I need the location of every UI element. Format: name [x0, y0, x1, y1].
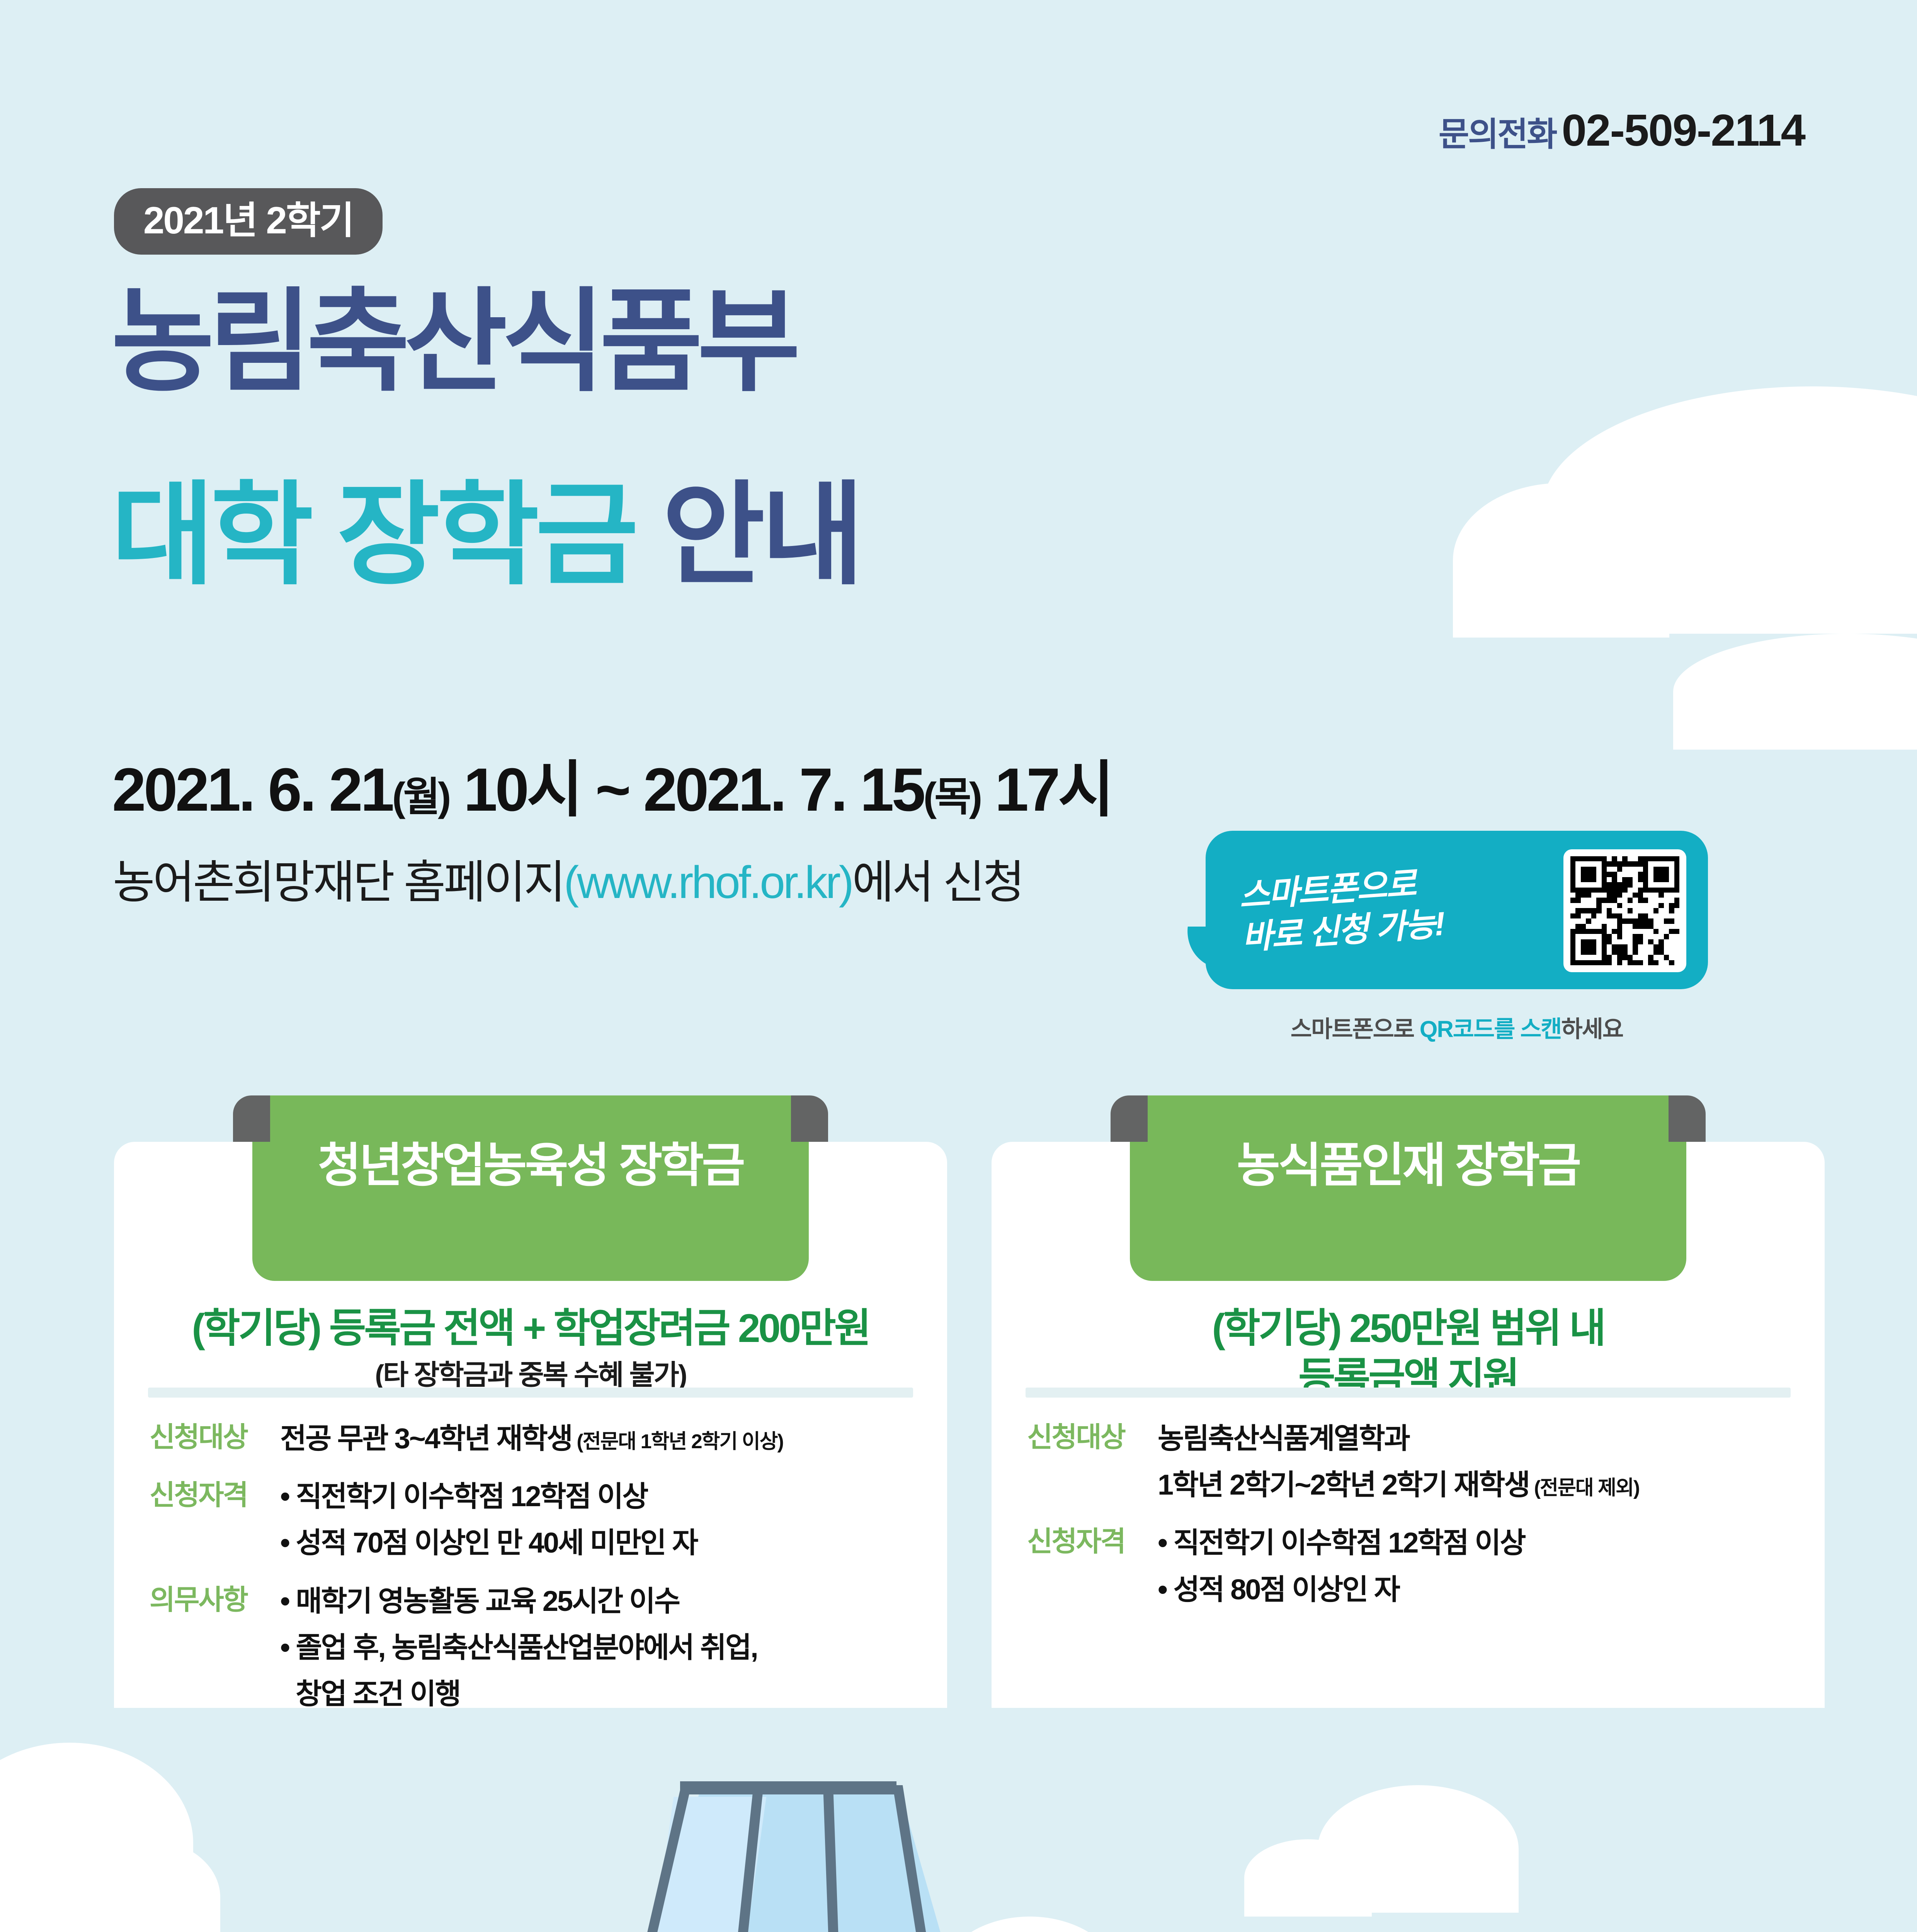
- detail-row-label: 의무사항: [150, 1583, 280, 1617]
- detail-line: 농림축산식품계열학과: [1158, 1420, 1798, 1457]
- detail-row-label: 신청대상: [1027, 1420, 1158, 1455]
- page-title-line2-navy: 안내: [662, 473, 861, 598]
- banner-tab-right: [791, 1095, 828, 1142]
- qr-caption-highlight: QR코드를 스캔: [1420, 1016, 1561, 1042]
- card-banner: 농식품인재 장학금: [1130, 1095, 1686, 1281]
- scholarship-card-agrifood-talent: 농식품인재 장학금 (학기당) 250만원 범위 내 등록금액 지원 신청대상 …: [992, 1142, 1825, 1783]
- detail-line: • 직전학기 이수학점 12학점 이상: [280, 1478, 920, 1515]
- scholarship-card-youth-startup: 청년창업농육성 장학금 (학기당) 등록금 전액 + 학업장려금 200만원 (…: [114, 1142, 947, 1783]
- period-date-start: 2021. 6. 21: [112, 756, 392, 824]
- semester-badge: 2021년 2학기: [114, 188, 383, 255]
- qr-bubble-text: 스마트폰으로 바로 신청 가능!: [1238, 861, 1446, 958]
- detail-row-body: 전공 무관 3~4학년 재학생 (전문대 1학년 2학기 이상): [280, 1420, 920, 1457]
- detail-line-note: (전문대 제외): [1529, 1477, 1639, 1499]
- card-amount-sub: (타 장학금과 중복 수혜 불가): [114, 1359, 947, 1392]
- detail-line-text: 1학년 2학기~2학년 2학기 재학생: [1158, 1469, 1529, 1501]
- period-time-end: 17시: [995, 756, 1112, 824]
- period-time-start: 10시: [464, 756, 581, 824]
- apply-url-link[interactable]: (www.rhof.or.kr): [564, 857, 852, 908]
- application-period: 2021. 6. 21(월) 10시 ~ 2021. 7. 15(목) 17시: [112, 759, 1112, 820]
- detail-row-label: 신청자격: [150, 1478, 280, 1513]
- detail-line: 1학년 2학기~2학년 2학기 재학생 (전문대 제외): [1158, 1466, 1798, 1503]
- card-amount-main: (학기당) 등록금 전액 + 학업장려금 200만원: [114, 1304, 947, 1353]
- detail-line: • 졸업 후, 농림축산식품산업분야에서 취업,: [280, 1629, 920, 1666]
- page-title-line1: 농림축산식품부: [111, 286, 795, 398]
- poster-root: 문의전화 02-509-2114 2021년 2학기 농림축산식품부 대학 장학…: [0, 0, 1917, 1932]
- detail-line: • 매학기 영농활동 교육 25시간 이수: [280, 1583, 920, 1620]
- card-divider: [148, 1388, 913, 1398]
- period-day-start: (월): [392, 775, 449, 820]
- qr-code-matrix: [1570, 856, 1679, 965]
- detail-row: 신청자격 • 직전학기 이수학점 12학점 이상 • 성적 70점 이상인 만 …: [150, 1478, 920, 1561]
- detail-row-label: 신청자격: [1027, 1524, 1158, 1559]
- application-method: 농어촌희망재단 홈페이지(www.rhof.or.kr)에서 신청: [113, 860, 1023, 905]
- page-title-line2: 대학 장학금 안내: [111, 479, 861, 591]
- card-banner-title: 청년창업농육성 장학금: [318, 1142, 743, 1189]
- apply-suffix: 에서 신청: [852, 857, 1023, 908]
- detail-row-body: • 직전학기 이수학점 12학점 이상 • 성적 70점 이상인 만 40세 미…: [280, 1478, 920, 1561]
- detail-line: 창업 조건 이행: [280, 1675, 920, 1713]
- banner-tab-right: [1669, 1095, 1706, 1142]
- greenhouse: [572, 1766, 1028, 1932]
- card-amount-block: (학기당) 등록금 전액 + 학업장려금 200만원 (타 장학금과 중복 수혜…: [114, 1304, 947, 1392]
- detail-row-body: 농림축산식품계열학과 1학년 2학기~2학년 2학기 재학생 (전문대 제외): [1158, 1420, 1798, 1503]
- detail-line: • 직전학기 이수학점 12학점 이상: [1158, 1524, 1798, 1561]
- cloud-icon: [1673, 634, 1917, 750]
- qr-speech-bubble: 스마트폰으로 바로 신청 가능!: [1206, 831, 1708, 989]
- cloud-icon: [1453, 483, 1669, 638]
- cloud-icon: [1244, 1839, 1372, 1917]
- detail-row-label: 신청대상: [150, 1420, 280, 1455]
- card-divider: [1026, 1388, 1791, 1398]
- detail-row: 의무사항 • 매학기 영농활동 교육 25시간 이수 • 졸업 후, 농림축산식…: [150, 1583, 920, 1713]
- detail-row: 신청대상 전공 무관 3~4학년 재학생 (전문대 1학년 2학기 이상): [150, 1420, 920, 1457]
- detail-row: 신청자격 • 직전학기 이수학점 12학점 이상 • 성적 80점 이상인 자: [1027, 1524, 1798, 1608]
- detail-line-text: 전공 무관 3~4학년 재학생: [280, 1422, 572, 1454]
- banner-tab-left: [233, 1095, 270, 1142]
- contact-phone: 문의전화 02-509-2114: [1439, 104, 1805, 156]
- period-day-end: (목): [923, 775, 980, 820]
- qr-caption-suffix: 하세요: [1561, 1016, 1623, 1042]
- phone-number: 02-509-2114: [1562, 104, 1805, 156]
- period-date-end: 2021. 7. 15: [643, 756, 924, 824]
- qr-caption: 스마트폰으로 QR코드를 스캔하세요: [1206, 1010, 1708, 1044]
- detail-line-note: (전문대 1학년 2학기 이상): [572, 1430, 783, 1453]
- card-banner-title: 농식품인재 장학금: [1237, 1142, 1580, 1189]
- qr-code[interactable]: [1563, 849, 1686, 972]
- detail-line: 전공 무관 3~4학년 재학생 (전문대 1학년 2학기 이상): [280, 1420, 920, 1457]
- apply-prefix: 농어촌희망재단 홈페이지: [113, 857, 564, 908]
- detail-row: 신청대상 농림축산식품계열학과 1학년 2학기~2학년 2학기 재학생 (전문대…: [1027, 1420, 1798, 1503]
- phone-label: 문의전화: [1439, 107, 1556, 155]
- card-detail-rows: 신청대상 전공 무관 3~4학년 재학생 (전문대 1학년 2학기 이상) 신청…: [150, 1420, 920, 1733]
- period-separator: ~: [595, 756, 629, 824]
- card-banner: 청년창업농육성 장학금: [252, 1095, 809, 1281]
- detail-line: • 성적 80점 이상인 자: [1158, 1571, 1798, 1608]
- card-detail-rows: 신청대상 농림축산식품계열학과 1학년 2학기~2학년 2학기 재학생 (전문대…: [1027, 1420, 1798, 1629]
- detail-line: • 성적 70점 이상인 만 40세 미만인 자: [280, 1524, 920, 1561]
- detail-row-body: • 직전학기 이수학점 12학점 이상 • 성적 80점 이상인 자: [1158, 1524, 1798, 1608]
- detail-row-body: • 매학기 영농활동 교육 25시간 이수 • 졸업 후, 농림축산식품산업분야…: [280, 1583, 920, 1713]
- farm-illustration: [0, 1708, 1917, 1932]
- banner-tab-left: [1111, 1095, 1148, 1142]
- greenhouse-frame: [680, 1781, 896, 1794]
- page-title-line2-cyan: 대학 장학금: [111, 473, 635, 598]
- qr-caption-prefix: 스마트폰으로: [1291, 1016, 1420, 1042]
